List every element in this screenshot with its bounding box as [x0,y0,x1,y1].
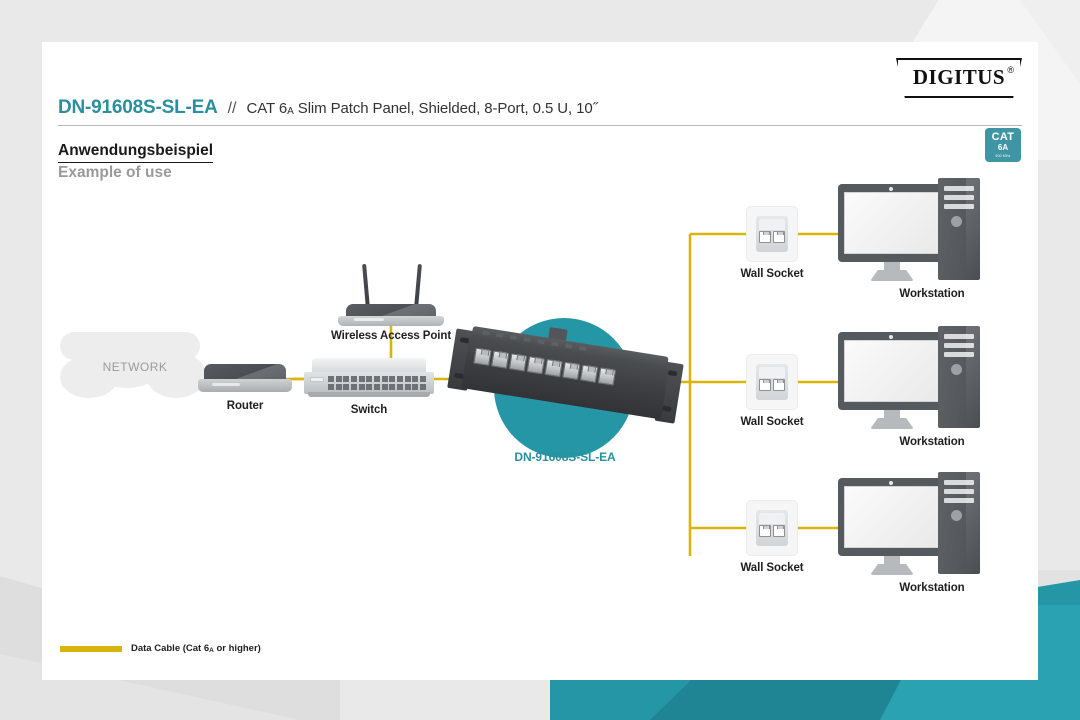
switch-icon: Switch [304,358,434,400]
workstation-2-icon: Workstation [838,332,986,440]
content-card: DIGITUS ® DN-91608S-SL-EA // CAT 6A Slim… [42,42,1038,680]
wall-socket-1-icon: Wall Socket [746,206,798,262]
legend-label-post: or higher) [214,643,261,654]
router-icon: Router [198,364,292,396]
patch-panel-icon: DN-91608S-SL-EA [450,324,680,444]
legend-label: Data Cable (Cat 6A or higher) [131,643,261,654]
workstation-3-icon: Workstation [838,478,986,586]
legend-label-pre: Data Cable (Cat 6 [131,643,209,654]
wall-socket-2-icon: Wall Socket [746,354,798,410]
workstation-3-label: Workstation [832,582,1032,594]
workstation-2-label: Workstation [832,436,1032,448]
network-diagram: NETWORK Router Wireless Access Point [42,42,1038,680]
switch-label: Switch [269,404,469,416]
legend-cable-swatch [60,646,122,652]
workstation-1-icon: Workstation [838,184,986,292]
wireless-access-point-icon: Wireless Access Point [338,264,444,326]
legend: Data Cable (Cat 6A or higher) [60,643,261,654]
workstation-1-label: Workstation [832,288,1032,300]
patch-panel-label: DN-91608S-SL-EA [465,450,665,464]
network-cloud-label: NETWORK [60,360,210,374]
slide-canvas: DIGITUS ® DN-91608S-SL-EA // CAT 6A Slim… [0,0,1080,720]
network-cloud-icon: NETWORK [60,332,210,402]
wall-socket-3-icon: Wall Socket [746,500,798,556]
